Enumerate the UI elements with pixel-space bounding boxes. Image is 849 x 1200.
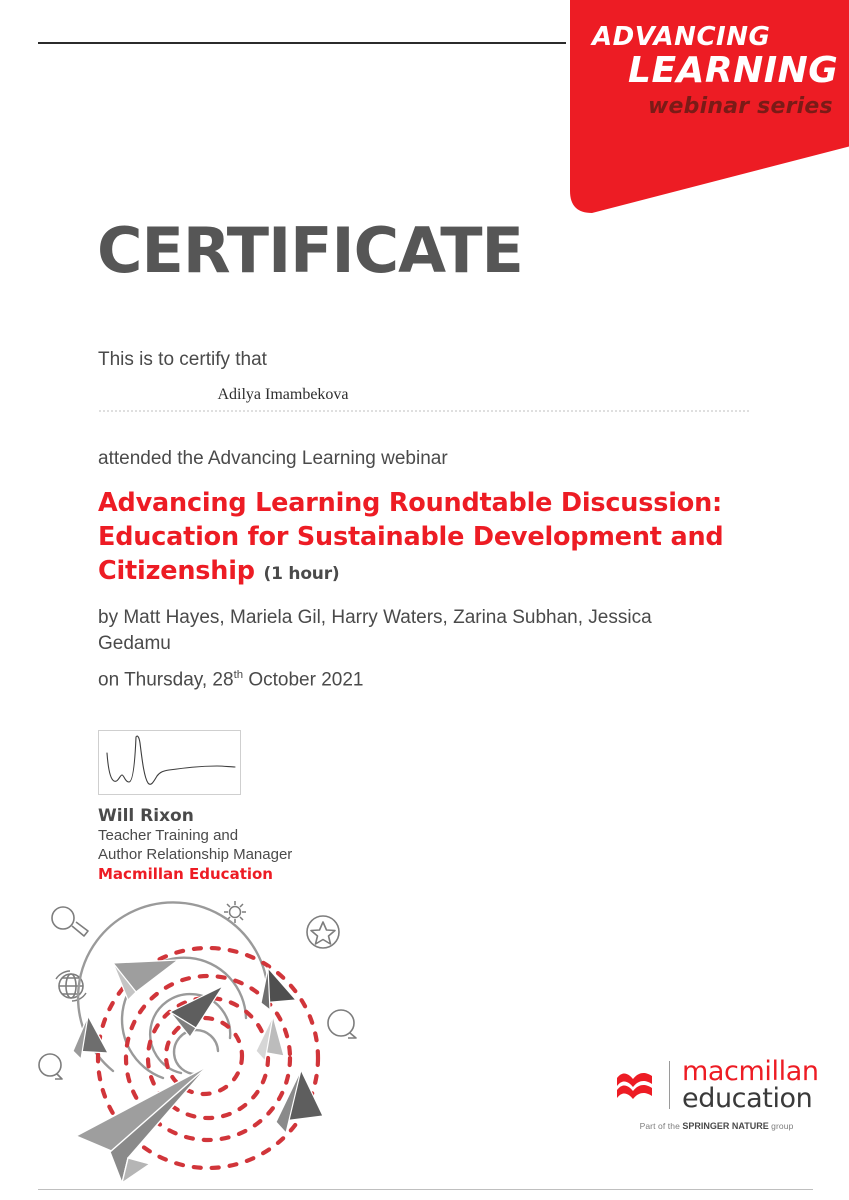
presenters-text: by Matt Hayes, Mariela Gil, Harry Waters… <box>98 605 678 655</box>
event-date-prefix: on Thursday, 28 <box>98 669 234 690</box>
signatory-organisation: Macmillan Education <box>98 865 292 883</box>
signatory-name: Will Rixon <box>98 806 292 826</box>
event-date-ordinal: th <box>234 669 244 681</box>
handwritten-signature-icon <box>99 731 240 794</box>
webinar-title: Advancing Learning Roundtable Discussion… <box>98 487 738 589</box>
certificate-page: ADVANCING LEARNING webinar series CERTIF… <box>0 0 849 1200</box>
signature-box <box>98 730 241 795</box>
signatory-role-line-2: Author Relationship Manager <box>98 845 292 864</box>
springer-nature-tagline: Part of the SPRINGER NATURE group <box>614 1121 819 1131</box>
macmillan-education-logo: macmillan education Part of the SPRINGER… <box>614 1058 819 1148</box>
signatory-block: Will Rixon Teacher Training and Author R… <box>98 730 292 883</box>
signatory-role-line-1: Teacher Training and <box>98 826 292 845</box>
paper-plane-primary <box>76 1066 208 1183</box>
page-title: CERTIFICATE <box>97 214 523 287</box>
recipient-name: Adilya Imambekova <box>217 386 348 403</box>
magnifier-icon <box>52 907 88 936</box>
tagline-prefix: Part of the <box>640 1121 683 1131</box>
event-date: on Thursday, 28th October 2021 <box>98 669 758 691</box>
attended-text: attended the Advancing Learning webinar <box>98 448 758 470</box>
paper-planes-illustration <box>18 888 398 1188</box>
certificate-body: This is to certify that Adilya Imambekov… <box>98 348 758 691</box>
logo-text-education: education <box>682 1085 819 1112</box>
bottom-divider <box>38 1189 813 1190</box>
logo-text-macmillan: macmillan <box>682 1058 819 1085</box>
star-icon <box>307 916 339 948</box>
logo-divider <box>669 1061 670 1109</box>
speech-bubble-icon <box>39 1054 62 1079</box>
event-date-suffix: October 2021 <box>243 669 363 690</box>
signature-dotted-line <box>98 410 750 412</box>
advancing-learning-banner: ADVANCING LEARNING webinar series <box>556 0 849 213</box>
tagline-suffix: group <box>769 1121 794 1131</box>
paper-plane <box>113 960 178 1000</box>
top-divider <box>38 42 566 44</box>
speech-bubble-icon <box>328 1010 356 1038</box>
certify-lead-text: This is to certify that <box>98 348 758 372</box>
tagline-brand: SPRINGER NATURE <box>682 1121 768 1131</box>
paper-plane <box>256 1016 284 1061</box>
webinar-duration: (1 hour) <box>264 564 340 584</box>
webinar-title-text: Advancing Learning Roundtable Discussion… <box>98 488 723 586</box>
macmillan-m-icon <box>614 1062 660 1108</box>
recipient-row: Adilya Imambekova <box>98 386 758 404</box>
